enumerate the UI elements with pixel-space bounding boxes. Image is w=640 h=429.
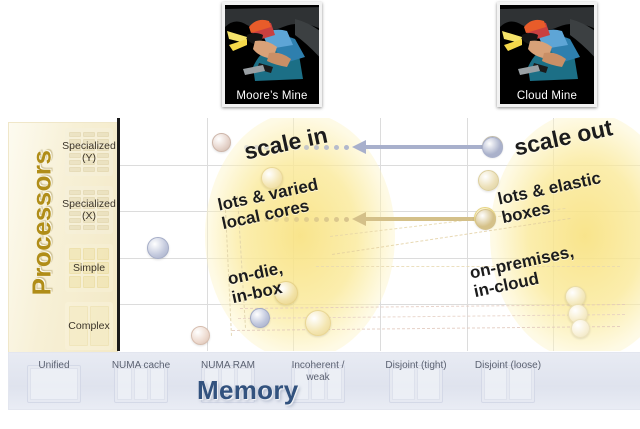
axis-cell-label: Incoherent / weak [281, 360, 355, 384]
processors-axis-panel: Processors Specialized (Y) Specialized (… [8, 122, 118, 356]
axis-cell-label: NUMA cache [112, 360, 170, 372]
axis-cell-label: Unified [38, 360, 69, 372]
axis-cell-disjoint-tight: Disjoint (tight) [379, 357, 453, 405]
axis-cell-label: Simple [73, 262, 105, 274]
axis-cell-label: Disjoint (loose) [475, 360, 541, 372]
arrow-shaft [364, 217, 485, 221]
data-point-p-low-left [250, 308, 270, 328]
data-point-p-cluster-3 [571, 319, 590, 338]
arrow-shaft [364, 145, 492, 149]
thumbnail-caption: Moore’s Mine [225, 90, 319, 102]
processors-axis-title: Processors [27, 128, 58, 318]
diagram-canvas: Moore’s Mine Cloud Mine [0, 0, 640, 429]
data-point-p-low-left-pink [191, 326, 210, 345]
axis-cell-specialized-x: Specialized (X) [61, 183, 117, 237]
axis-cell-specialized-y: Specialized (Y) [61, 125, 117, 179]
miner-illustration [500, 5, 594, 83]
data-point-p-right-mid [478, 170, 499, 191]
memory-axis-panel: Unified NUMA cache NUMA RAM Incoherent /… [8, 352, 640, 410]
axis-cell-label: Disjoint (tight) [385, 360, 446, 372]
arrow-origin-knob [482, 137, 503, 158]
arrow-head-icon [352, 212, 366, 226]
thumbnail-moores-mine[interactable]: Moore’s Mine [222, 2, 322, 107]
axis-cell-label: Complex [68, 320, 109, 332]
data-point-p-glow-b [305, 310, 331, 336]
scale-in-arrow-bot [352, 212, 485, 226]
data-point-p-top-left [212, 133, 231, 152]
axis-cell-unified: Unified [17, 357, 91, 405]
data-point-p-mid-left [147, 237, 169, 259]
axis-cell-numa-cache: NUMA cache [104, 357, 178, 405]
thumbnail-caption: Cloud Mine [500, 90, 594, 102]
miner-illustration [225, 5, 319, 83]
arrow-head-icon [352, 140, 366, 154]
axis-cell-label: Specialized (X) [61, 198, 117, 222]
arrow-origin-knob [475, 209, 496, 230]
thumbnail-cloud-mine[interactable]: Cloud Mine [497, 2, 597, 107]
axis-cell-complex: Complex [61, 299, 117, 353]
plot-area: scale inlots & varied local coreson-die,… [117, 118, 640, 351]
axis-cell-simple: Simple [61, 241, 117, 295]
scale-in-arrow-top [352, 140, 492, 154]
axis-cell-label: NUMA RAM [201, 360, 255, 372]
axis-cell-disjoint-loose: Disjoint (loose) [471, 357, 545, 405]
axis-cell-label: Specialized (Y) [61, 140, 117, 164]
